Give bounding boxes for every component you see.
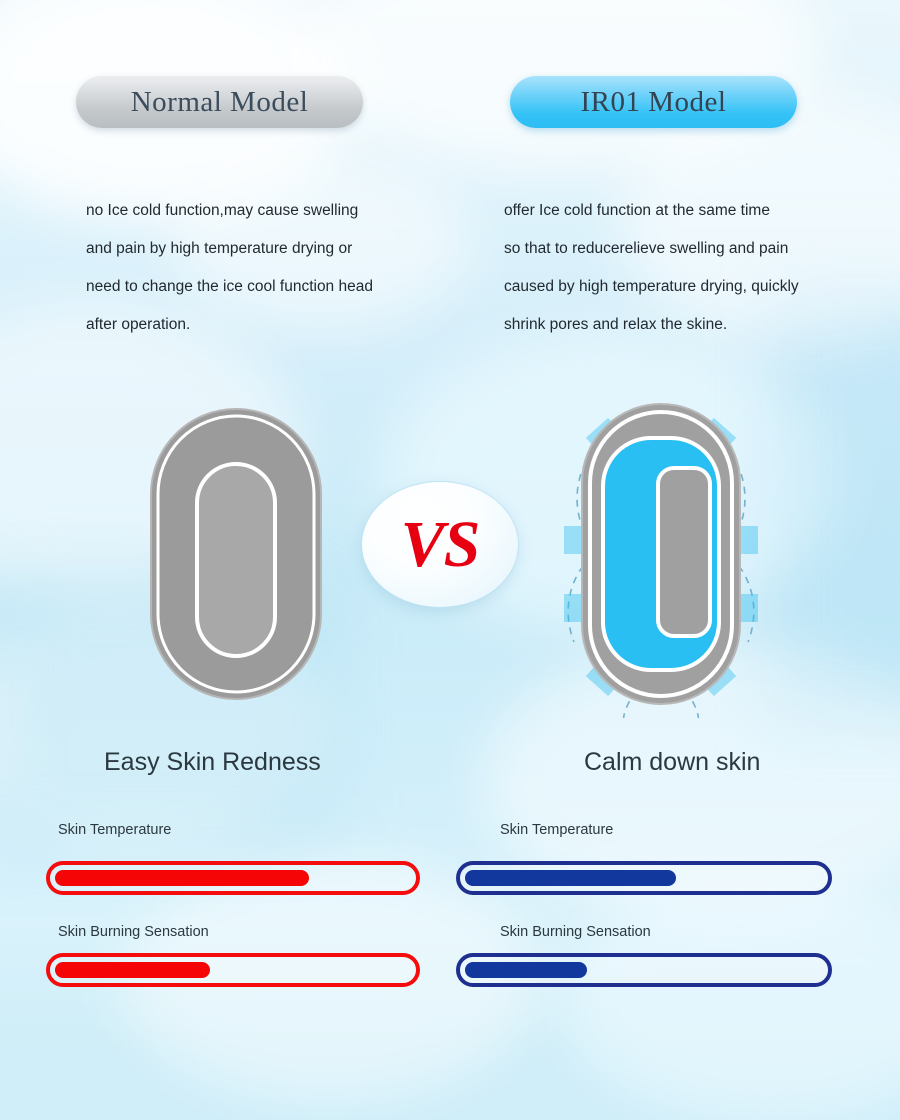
caption-normal-model: Easy Skin Redness (104, 748, 321, 777)
meter-right-skin-temperature (456, 861, 832, 895)
meter-fill (55, 962, 210, 978)
meter-label-left-skin-temperature: Skin Temperature (58, 822, 171, 838)
meter-fill (465, 870, 676, 886)
device-inner-panel (197, 464, 275, 656)
meter-right-skin-burning-sensation (456, 953, 832, 987)
header-pill-ir01-model: IR01 Model (510, 76, 797, 128)
device-inner-panel (658, 468, 710, 636)
description-line: offer Ice cold function at the same time (504, 192, 799, 230)
description-line: so that to reducerelieve swelling and pa… (504, 230, 799, 268)
description-line: and pain by high temperature drying or (86, 230, 373, 268)
caption-ir01-model: Calm down skin (584, 748, 760, 777)
ir01-device-svg (526, 388, 786, 718)
description-normal-model: no Ice cold function,may cause swelling … (86, 192, 373, 344)
description-line: shrink pores and relax the skine. (504, 306, 799, 344)
meter-label-right-skin-burning-sensation: Skin Burning Sensation (500, 924, 651, 940)
description-line: after operation. (86, 306, 373, 344)
normal-device-svg (148, 406, 324, 702)
header-pill-ir01-label: IR01 Model (581, 86, 727, 119)
meter-left-skin-temperature (46, 861, 420, 895)
meter-label-left-skin-burning-sensation: Skin Burning Sensation (58, 924, 209, 940)
background-tint (770, 300, 900, 720)
header-pill-normal-label: Normal Model (131, 86, 309, 119)
meter-label-right-skin-temperature: Skin Temperature (500, 822, 613, 838)
description-line: need to change the ice cool function hea… (86, 268, 373, 306)
description-ir01-model: offer Ice cold function at the same time… (504, 192, 799, 344)
versus-label: VS (362, 482, 518, 607)
description-line: caused by high temperature drying, quick… (504, 268, 799, 306)
meter-fill (465, 962, 587, 978)
normal-model-device-illustration (148, 406, 324, 702)
versus-badge: VS (362, 482, 518, 607)
ir01-model-device-illustration (566, 398, 754, 710)
header-pill-normal-model: Normal Model (76, 76, 363, 128)
meter-fill (55, 870, 309, 886)
meter-left-skin-burning-sensation (46, 953, 420, 987)
description-line: no Ice cold function,may cause swelling (86, 192, 373, 230)
